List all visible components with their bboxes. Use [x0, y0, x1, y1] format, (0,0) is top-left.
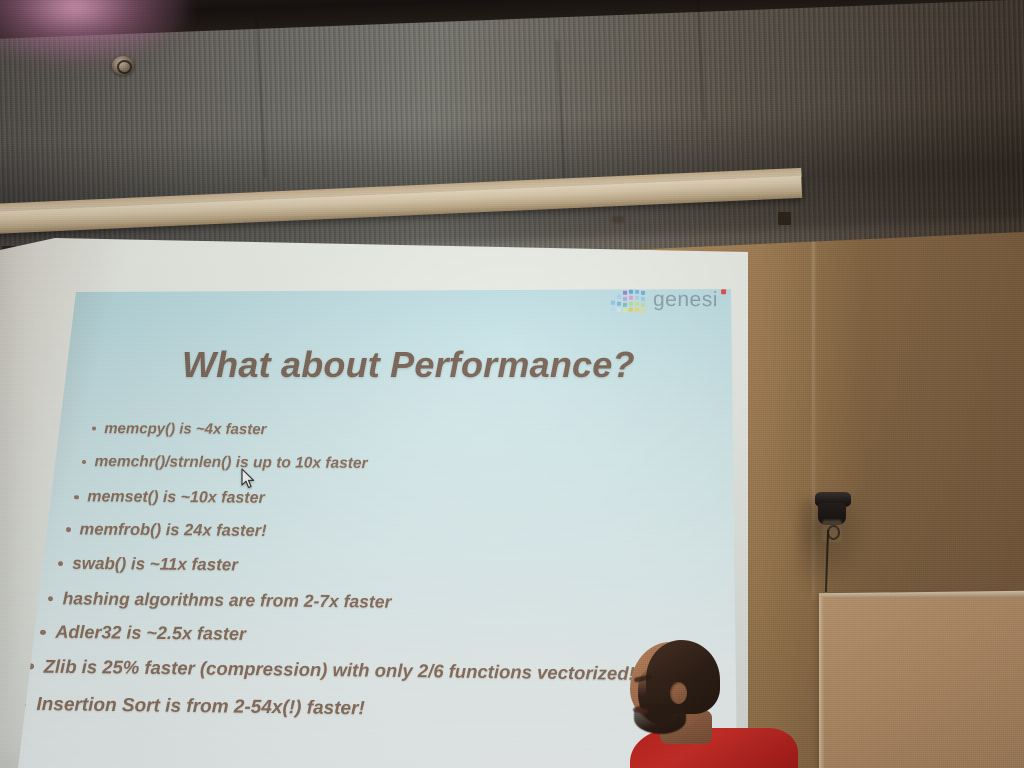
slide-bullet-7: Adler32 is ~2.5x faster: [40, 621, 246, 645]
genesi-wordmark: genesi: [653, 288, 718, 312]
whiteboard-left-frame: [819, 597, 824, 768]
slide-bullet-text: Adler32 is ~2.5x faster: [55, 622, 246, 644]
bullet-dot-icon: [92, 426, 96, 430]
bullet-dot-icon: [82, 460, 86, 464]
wall-speaker-icon: [813, 492, 853, 534]
slide-bullet-3: memset() is ~10x faster: [74, 488, 265, 508]
slide-bullet-2: memchr()/strnlen() is up to 10x faster: [82, 453, 368, 473]
bullet-dot-icon: [74, 495, 79, 500]
screen-housing-end-cap: [778, 212, 791, 225]
slide-bullet-text: memchr()/strnlen() is up to 10x faster: [94, 453, 367, 472]
screen-housing-label: [612, 216, 624, 223]
bullet-dot-icon: [58, 561, 63, 566]
mouse-pointer-icon[interactable]: [241, 468, 255, 489]
presenter-ear: [670, 682, 687, 704]
slide-bullet-text: memfrob() is 24x faster!: [79, 520, 266, 540]
presentation-room-photo: What about Performance? memcpy() is ~4x …: [0, 0, 1024, 768]
slide-bullet-text: memset() is ~10x faster: [87, 488, 265, 506]
slide-bullet-text: Insertion Sort is from 2-54x(!) faster!: [36, 694, 365, 719]
bullet-dot-icon: [66, 528, 71, 533]
whiteboard-panel: [821, 597, 1024, 768]
genesi-logo-mark-icon: [611, 289, 651, 315]
slide-bullet-text: hashing algorithms are from 2-7x faster: [63, 588, 392, 611]
slide-bullet-1: memcpy() is ~4x faster: [92, 419, 267, 438]
slide-bullet-4: memfrob() is 24x faster!: [66, 520, 267, 541]
slide-title: What about Performance?: [182, 344, 635, 386]
slide-bullet-9: Insertion Sort is from 2-54x(!) faster!: [20, 694, 365, 721]
slide-bullet-text: Zlib is 25% faster (compression) with on…: [44, 656, 635, 684]
ceiling-fixture-icon: [112, 56, 134, 75]
presenter-figure: [608, 636, 798, 768]
slide-bullet-text: memcpy() is ~4x faster: [104, 420, 266, 438]
slide-bullet-6: hashing algorithms are from 2-7x faster: [48, 587, 392, 612]
bullet-dot-icon: [40, 629, 46, 635]
slide-bullet-8: Zlib is 25% faster (compression) with on…: [28, 654, 635, 685]
bullet-dot-icon: [48, 596, 53, 601]
genesi-logo: genesi: [611, 287, 729, 318]
genesi-accent-dot-icon: [721, 289, 726, 294]
slide-bullet-text: swab() is ~11x faster: [72, 554, 238, 575]
presenter-shirt: [630, 728, 798, 768]
slide-bullet-5: swab() is ~11x faster: [58, 553, 238, 575]
